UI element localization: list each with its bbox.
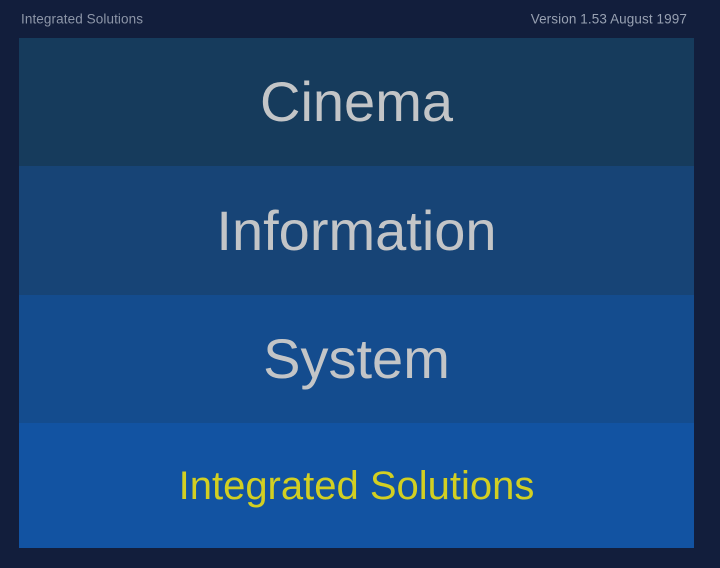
header-version-info: Version 1.53 August 1997 <box>531 12 687 27</box>
splash-screen: Integrated Solutions Version 1.53 August… <box>0 0 720 568</box>
banner-band-system: System <box>19 295 694 423</box>
banner-title-tagline: Integrated Solutions <box>179 466 535 506</box>
banner-band-tagline: Integrated Solutions <box>19 423 694 548</box>
banner-title-system: System <box>263 331 450 387</box>
banner-band-information: Information <box>19 166 694 295</box>
banner-title-information: Information <box>216 203 496 259</box>
banner-title-cinema: Cinema <box>260 74 453 130</box>
banner-band-cinema: Cinema <box>19 38 694 166</box>
header-app-name: Integrated Solutions <box>21 12 143 27</box>
header-bar: Integrated Solutions Version 1.53 August… <box>0 0 720 38</box>
